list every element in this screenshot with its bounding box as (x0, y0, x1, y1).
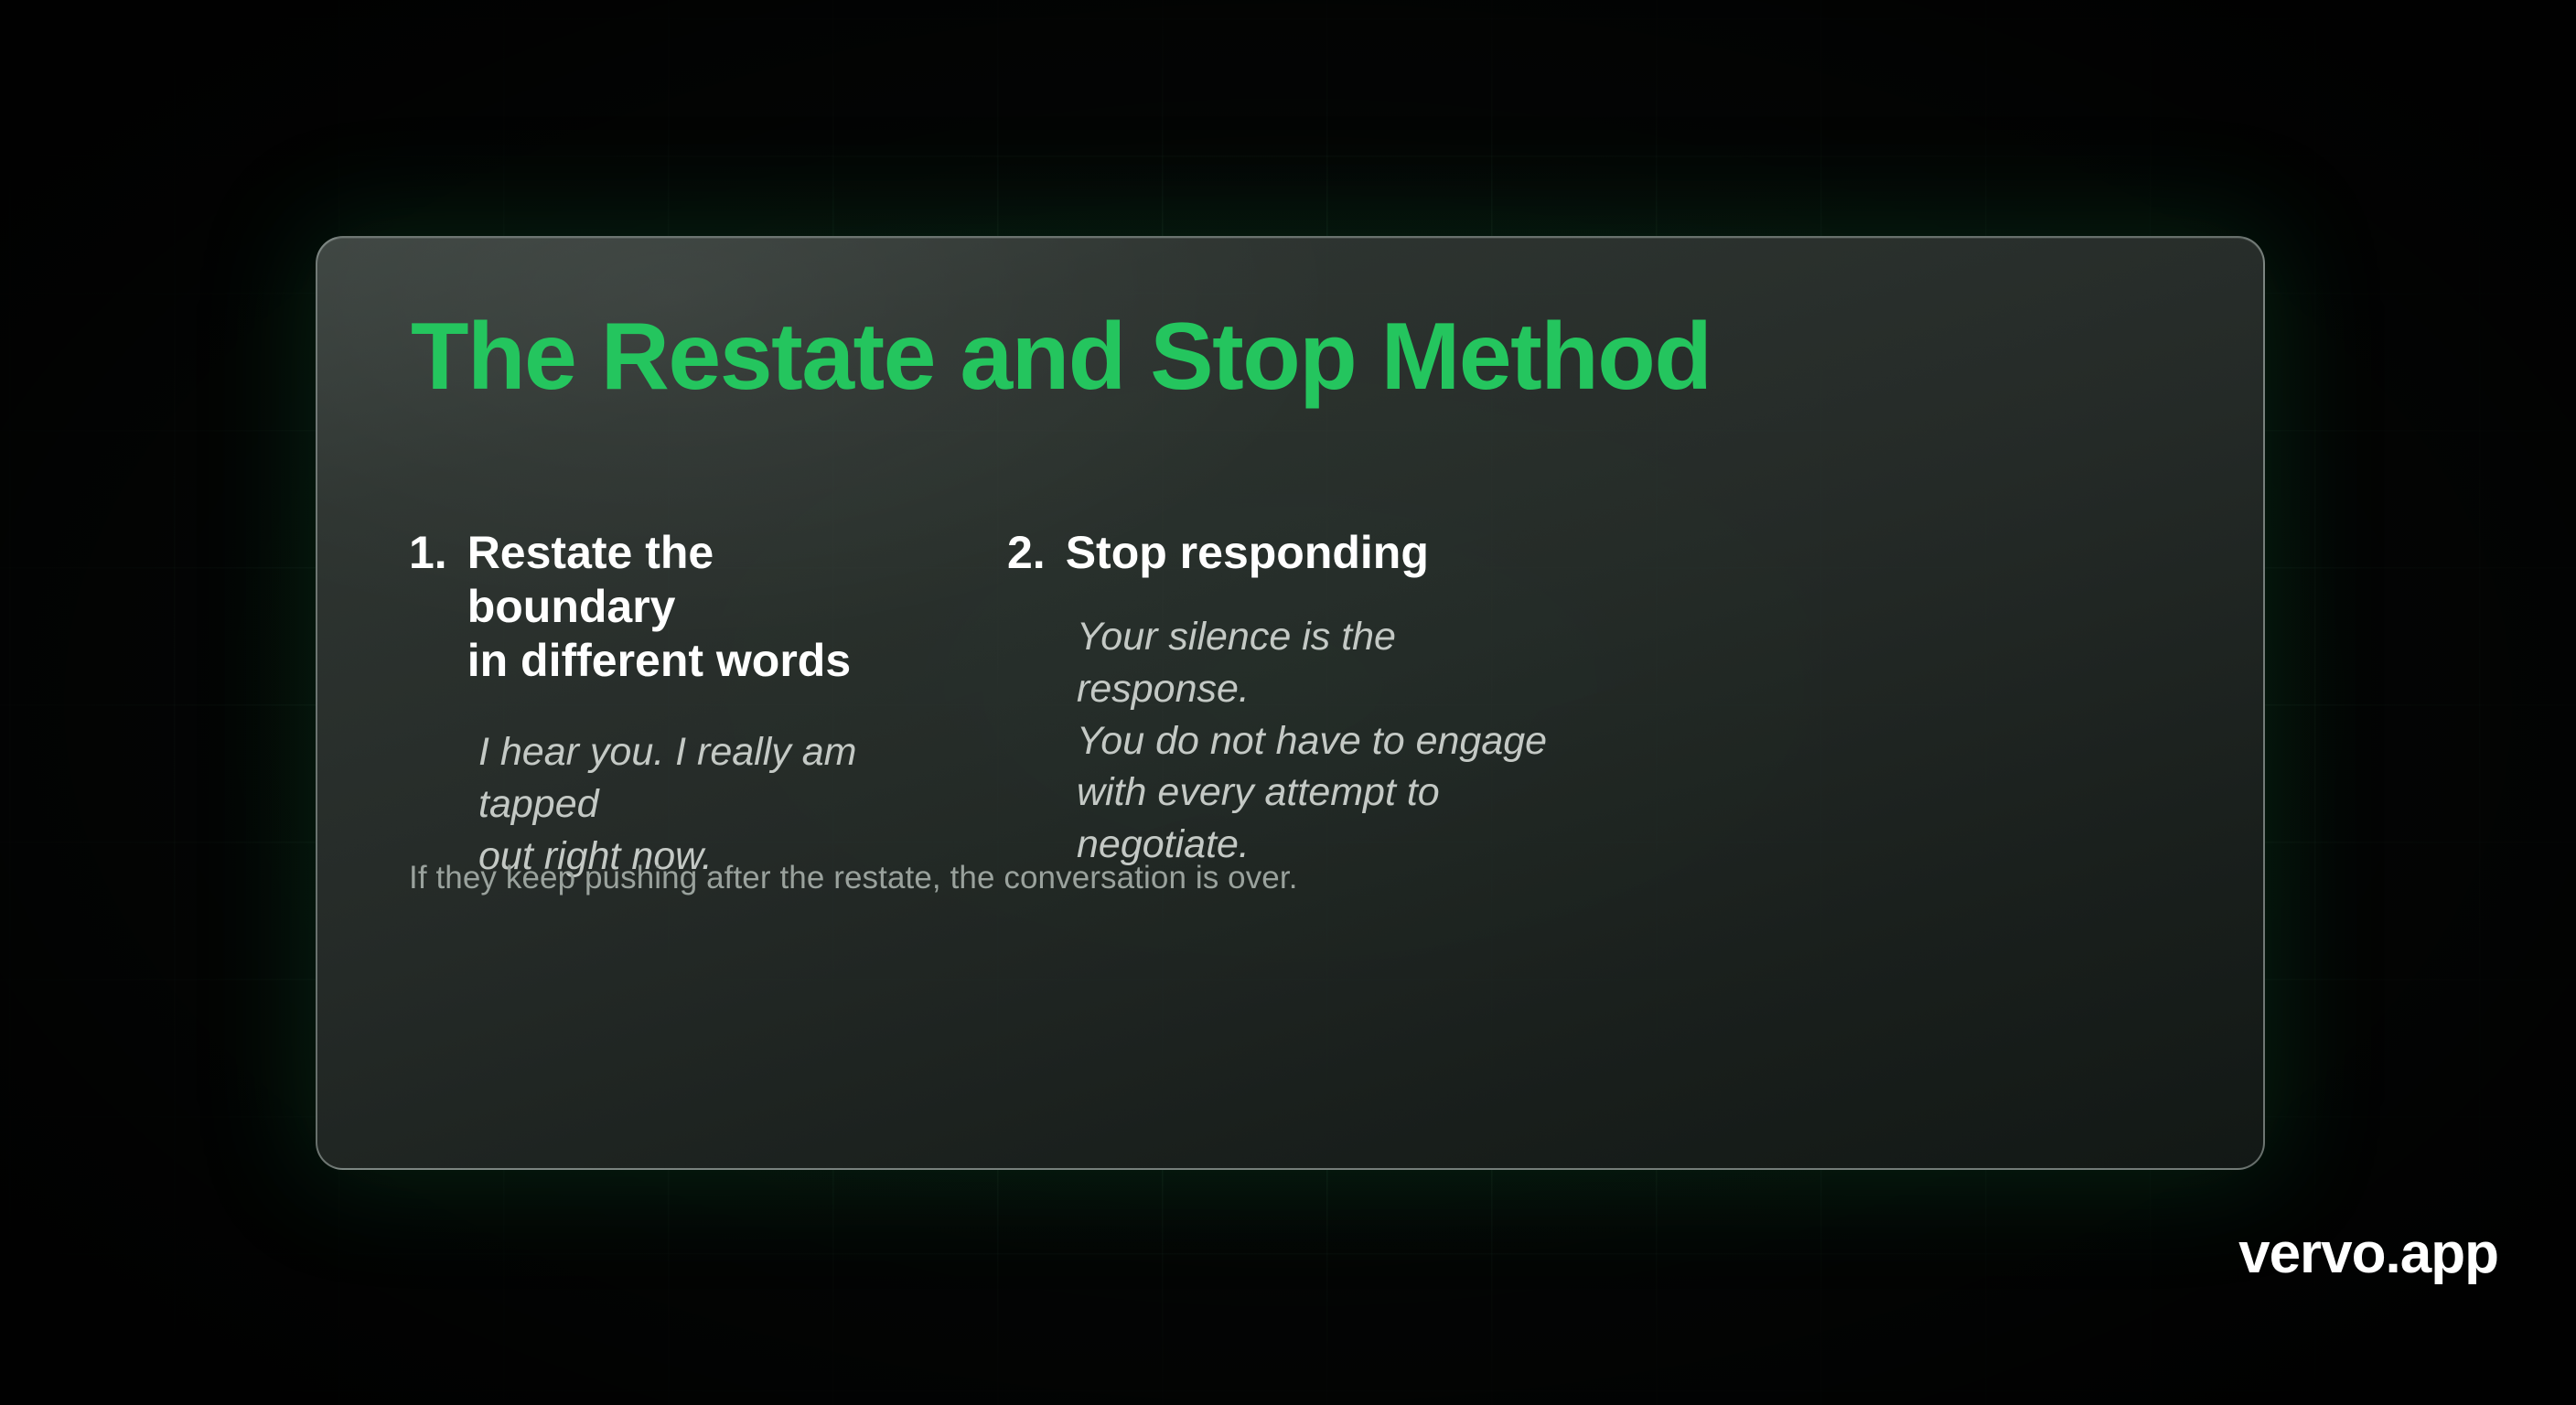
step-1-quote-line-1: I hear you. I really am tapped (478, 730, 856, 826)
brand-wordmark: vervo.app (2238, 1221, 2498, 1286)
steps-columns: 1. Restate the boundary in different wor… (409, 526, 2174, 882)
step-2-number: 2. (1007, 526, 1046, 580)
step-2-quote-line-2: You do not have to engage (1077, 719, 1547, 763)
step-2-quote-line-3: with every attempt to negotiate. (1077, 770, 1440, 866)
card-footnote: If they keep pushing after the restate, … (409, 860, 1298, 896)
step-1-heading-line-1: Restate the boundary (467, 527, 714, 632)
step-2-heading-line-1: Stop responding (1066, 527, 1429, 578)
content-card: The Restate and Stop Method 1. Restate t… (316, 236, 2265, 1170)
card-inner: The Restate and Stop Method 1. Restate t… (317, 238, 2263, 1168)
step-1-heading: Restate the boundary in different words (467, 526, 921, 688)
step-1-heading-line-2: in different words (467, 635, 851, 686)
step-2-heading-row: 2. Stop responding (1007, 526, 1565, 580)
step-item-2: 2. Stop responding Your silence is the r… (1007, 526, 1565, 882)
slide-canvas: The Restate and Stop Method 1. Restate t… (0, 0, 2576, 1405)
step-1-quote: I hear you. I really am tapped out right… (478, 726, 921, 882)
step-2-quote-line-1: Your silence is the response. (1077, 615, 1396, 711)
card-title: The Restate and Stop Method (411, 309, 1711, 404)
step-item-1: 1. Restate the boundary in different wor… (409, 526, 921, 882)
step-1-number: 1. (409, 526, 447, 580)
step-1-heading-row: 1. Restate the boundary in different wor… (409, 526, 921, 688)
step-2-quote: Your silence is the response. You do not… (1077, 611, 1565, 871)
step-2-heading: Stop responding (1066, 526, 1429, 580)
